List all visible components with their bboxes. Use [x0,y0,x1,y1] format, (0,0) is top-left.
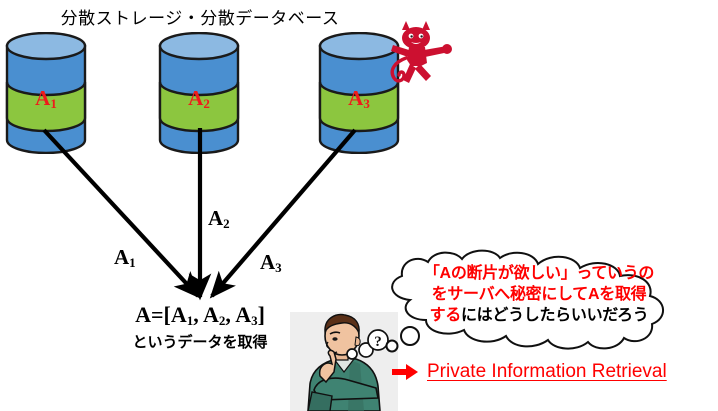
arrow-a3 [212,130,355,296]
thought-bubble-text: 「Aの断片が欲しい」っていうの をサーバへ秘密にしてAを取得 するにはどうしたら… [404,264,674,326]
result-caption: というデータを取得 [100,331,300,352]
arrow-label-a2: A2 [208,208,230,229]
arrow-label-a3: A3 [260,252,282,273]
arrow-a1 [44,130,198,296]
bubble-line-3: するにはどうしたらいいだろう [404,306,674,327]
arrow-label-a1: A1 [114,247,136,268]
question-mark-glyph: ? [374,334,382,350]
bubble-line-2: をサーバへ秘密にしてAを取得 [404,285,674,306]
private-information-retrieval-link[interactable]: Private Information Retrieval [427,361,667,383]
server-cylinder-a2[interactable]: A2 [158,32,240,154]
page-title: 分散ストレージ・分散データベース [0,4,400,29]
right-arrow-icon [392,363,418,381]
bubble-line-3-red: する [430,307,461,324]
conclusion-row: Private Information Retrieval [392,361,667,383]
result-formula: A=[A1, A2, A3] [100,303,300,326]
thinking-man-illustration: ? [290,312,398,411]
devil-attacker-icon [385,18,453,88]
bubble-line-1: 「Aの断片が欲しい」っていうの [404,264,674,285]
slide-canvas: 分散ストレージ・分散データベース A1 A2 A3 [0,0,718,411]
bubble-line-3-black: にはどうしたらいいだろう [461,307,648,324]
server-cylinder-a1[interactable]: A1 [5,32,87,154]
